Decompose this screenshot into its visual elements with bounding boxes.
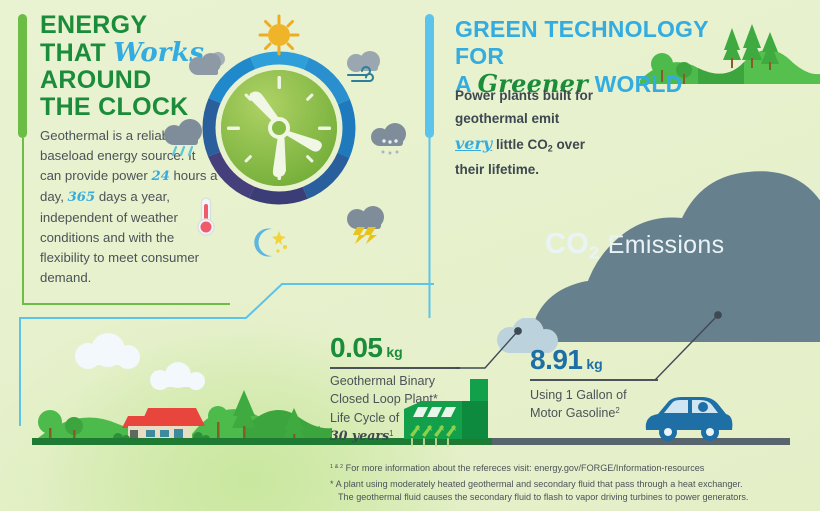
stat-1-footnote-marker: 1	[389, 429, 393, 438]
sky-clouds	[75, 333, 205, 390]
stat-2-footnote-marker: 2	[615, 406, 619, 415]
footnote-line-1: 1 & 2 For more information about the ref…	[330, 462, 800, 475]
cloud-wind-icon	[340, 50, 388, 89]
right-body-co2-pre: little CO	[492, 137, 548, 152]
footnote-line-3: The geothermal fluid causes the secondar…	[338, 491, 818, 504]
left-body-365: 365	[68, 190, 96, 205]
stat-2-leader-line	[655, 310, 745, 386]
stat-1-leader-line	[455, 326, 535, 374]
co2-emissions-label: CO2 Emissions	[545, 228, 724, 263]
right-body-co2-post: over	[553, 137, 585, 152]
sun-icon	[258, 14, 300, 61]
right-body-line-3: very little CO2 over	[455, 130, 635, 158]
footnote-markers: 1 & 2	[330, 464, 343, 470]
cloud-sun-icon	[185, 50, 229, 83]
left-body-24: 24	[151, 169, 169, 184]
left-heading-line-1: ENERGY	[40, 12, 240, 39]
right-panel-bracket	[425, 14, 435, 142]
footnote-line-2: * A plant using moderately heated geothe…	[330, 478, 810, 491]
right-body-line-1: Power plants built for	[455, 84, 635, 107]
cloud-rain-icon	[160, 117, 208, 162]
stat-2-caption-line-2: Motor Gasoline	[530, 406, 615, 420]
cloud-lightning-icon	[340, 204, 388, 249]
moon-stars-icon	[250, 226, 292, 263]
stat-1-caption-years: 30 years	[330, 428, 389, 443]
left-heading-that: THAT	[40, 39, 106, 67]
right-heading-line-1: GREEN TECHNOLOGY FOR	[455, 16, 755, 70]
right-body-very: very	[455, 134, 492, 153]
stat-1-rule	[330, 367, 460, 369]
right-body-line-4: their lifetime.	[455, 158, 635, 181]
stat-2-value: 8.91 kg	[530, 344, 603, 376]
right-body-text: Power plants built for geothermal emit v…	[455, 84, 635, 181]
right-body-line-2: geothermal emit	[455, 107, 635, 130]
power-plant-icon	[396, 379, 506, 447]
thermometer-icon	[196, 196, 216, 243]
left-panel-bracket	[18, 14, 28, 304]
stat-2-rule	[530, 379, 658, 381]
stat-1-value: 0.05 kg	[330, 332, 403, 364]
car-icon	[640, 392, 736, 444]
infographic-canvas: CO2 Emissions ENERGY THAT Works AROUND T…	[0, 0, 820, 511]
